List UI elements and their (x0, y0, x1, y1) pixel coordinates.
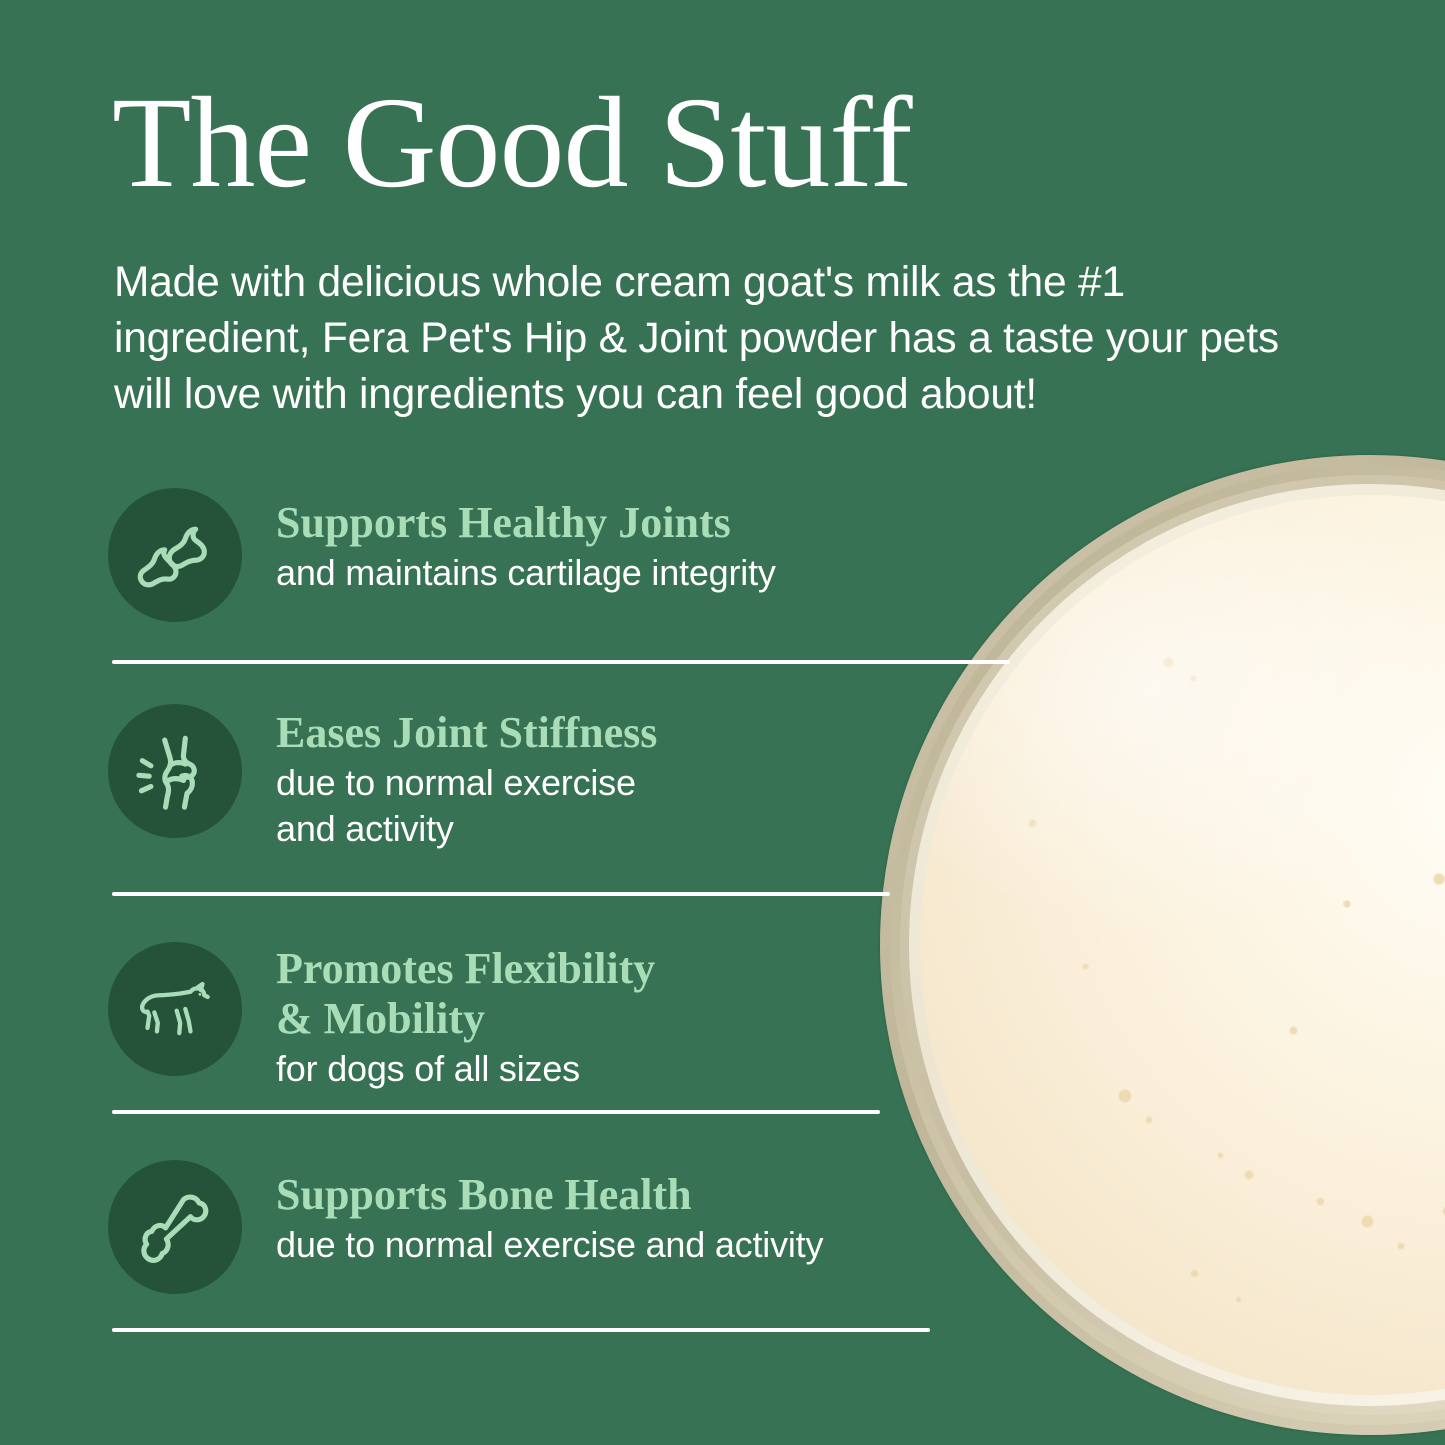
promo-graphic: The Good Stuff Made with delicious whole… (0, 0, 1445, 1445)
benefit-subtitle: due to normal exercise and activity (276, 1222, 1036, 1268)
benefit-row-joint-stiffness: Eases Joint Stiffness due to normal exer… (0, 680, 1445, 920)
bone-icon (108, 1160, 242, 1294)
benefit-row-bone-health: Supports Bone Health due to normal exerc… (0, 1130, 1445, 1350)
benefit-title: Supports Healthy Joints (276, 498, 1036, 548)
row-divider (112, 1110, 880, 1114)
row-divider (112, 1328, 930, 1332)
benefit-subtitle: for dogs of all sizes (276, 1046, 1036, 1092)
benefit-title: Eases Joint Stiffness (276, 708, 1036, 758)
benefit-title: Promotes Flexibility & Mobility (276, 944, 1036, 1044)
benefits-list: Supports Healthy Joints and maintains ca… (0, 470, 1445, 1350)
page-title: The Good Stuff (112, 78, 912, 208)
benefit-subtitle: due to normal exercise and activity (276, 760, 1036, 852)
benefit-row-flexibility-mobility: Promotes Flexibility & Mobility for dogs… (0, 920, 1445, 1130)
dog-silhouette-icon (108, 942, 242, 1076)
knee-joint-relief-icon (108, 704, 242, 838)
joint-bones-icon (108, 488, 242, 622)
intro-paragraph: Made with delicious whole cream goat's m… (114, 255, 1294, 423)
benefit-subtitle: and maintains cartilage integrity (276, 550, 1036, 596)
row-divider (112, 660, 1010, 664)
row-divider (112, 892, 890, 896)
benefit-title: Supports Bone Health (276, 1170, 1036, 1220)
benefit-row-healthy-joints: Supports Healthy Joints and maintains ca… (0, 470, 1445, 680)
